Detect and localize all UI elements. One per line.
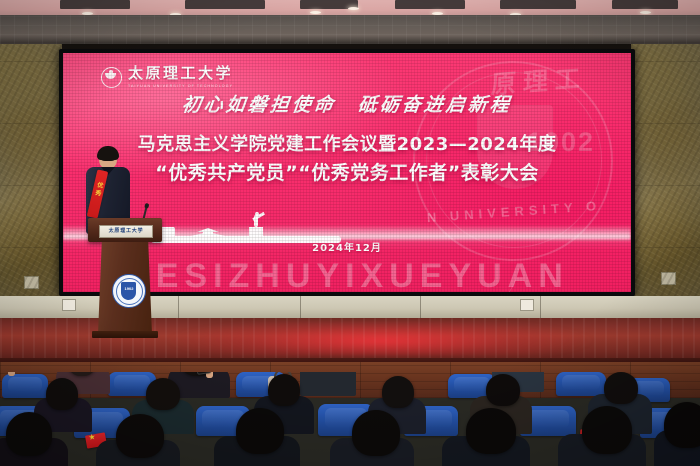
calligraphy-headline: 初心如磐担使命 砥砺奋进启新程 — [63, 90, 631, 117]
university-name-english: TAIYUAN UNIVERSITY OF TECHNOLOGY — [128, 84, 233, 88]
podium-nameplate-text: 太原理工大学 — [100, 226, 152, 236]
audience-head — [486, 374, 520, 406]
university-emblem-icon — [101, 67, 122, 88]
upper-wall-band — [0, 15, 700, 44]
event-title-line-2: “优秀共产党员”“优秀党务工作者”表彰大会 — [63, 159, 631, 188]
ceiling-light — [348, 7, 359, 10]
audience-head — [46, 378, 78, 410]
audience-area: ★ ★ ★ ★ — [0, 372, 700, 466]
audience-head — [352, 410, 400, 456]
wall-outlet — [520, 299, 534, 311]
city-silhouette-graphic — [151, 205, 341, 243]
audience-member — [300, 372, 356, 396]
audience-head — [664, 402, 700, 448]
audience-head — [146, 378, 180, 410]
audience-head — [604, 372, 638, 404]
seat — [556, 372, 606, 396]
audience-head — [582, 406, 632, 454]
audience-head — [116, 414, 164, 458]
audience-head — [382, 376, 414, 408]
university-name-chinese: 太原理工大学 — [128, 66, 233, 81]
audience-head — [466, 408, 516, 454]
wall-outlet — [62, 299, 76, 311]
audience-head — [268, 374, 300, 406]
university-logo: 太原理工大学 TAIYUAN UNIVERSITY OF TECHNOLOGY — [101, 66, 233, 88]
seat — [2, 374, 48, 398]
ceiling-light — [640, 11, 651, 14]
podium-base — [92, 331, 158, 338]
speaker-hair — [97, 146, 119, 160]
audience-head — [6, 412, 52, 456]
podium-top: 太原理工大学 — [88, 218, 162, 242]
auditorium-scene: 1902 N UNIVERSITY O 原理工 太原理工大学 TAIYUAN U… — [0, 0, 700, 466]
podium: 太原理工大学 1902 — [88, 218, 162, 338]
left-stone-wall — [0, 44, 62, 310]
raised-hand — [8, 372, 15, 376]
event-title-line-1: 马克思主义学院党建工作会议暨2023—2024年度 — [63, 132, 631, 158]
right-stone-wall — [631, 44, 700, 310]
ceiling — [0, 0, 700, 16]
ceiling-light — [310, 11, 321, 14]
event-title-block: 马克思主义学院党建工作会议暨2023—2024年度 “优秀共产党员”“优秀党务工… — [63, 132, 631, 188]
university-crest-icon: 1902 — [112, 274, 146, 308]
podium-nameplate: 太原理工大学 — [99, 225, 153, 238]
audience-head — [236, 408, 284, 454]
crest-year: 1902 — [113, 286, 145, 291]
